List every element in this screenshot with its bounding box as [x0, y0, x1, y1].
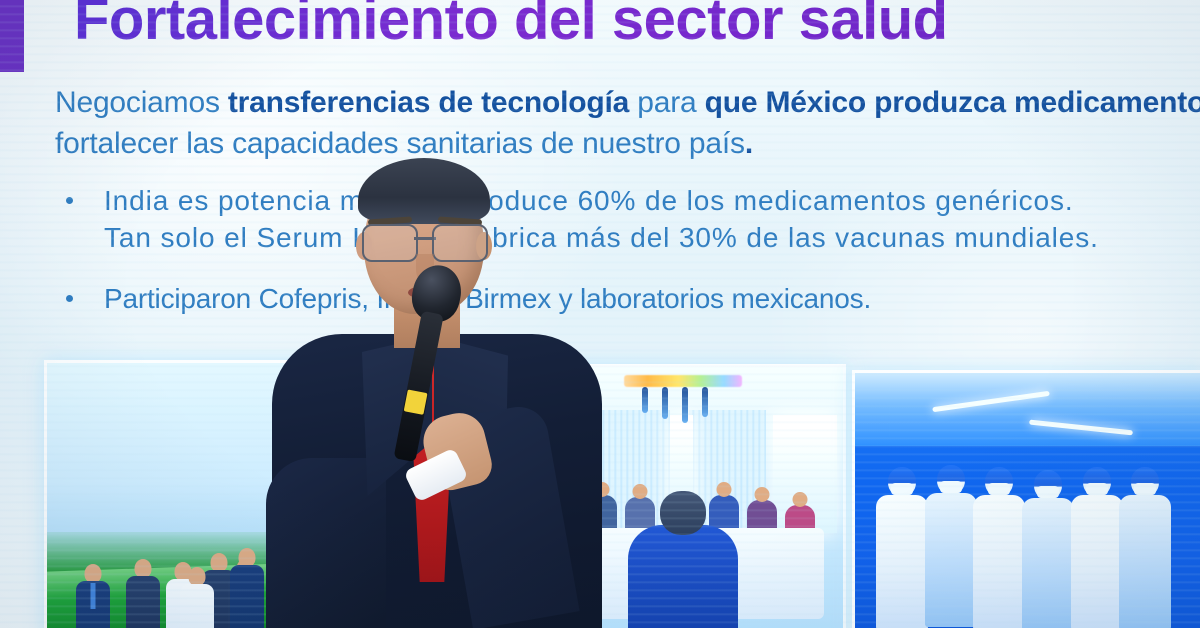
chandelier-icon	[624, 369, 742, 421]
lead-bold-2: que México produzca medicamentos	[705, 86, 1200, 119]
bullet-item-2: Participaron Cofepris, Insabi, Birmex y …	[60, 280, 1200, 317]
title-accent-bar	[0, 0, 24, 72]
slide-bullet-list: India es potencia mundial: produce 60% d…	[60, 182, 1200, 342]
speaker-figure	[258, 158, 618, 628]
slide-title: Fortalecimiento del sector salud	[74, 0, 948, 53]
bullet-item-1: India es potencia mundial: produce 60% d…	[60, 182, 1200, 256]
lead-bold-1: transferencias de tecnología	[228, 86, 629, 119]
photo-laboratory-workers	[852, 370, 1200, 628]
slide-lead-paragraph: Negociamos transferencias de tecnología …	[55, 82, 1200, 165]
lead-text-2: para	[629, 86, 705, 119]
presentation-screenshot: Fortalecimiento del sector salud Negocia…	[0, 0, 1200, 628]
lead-text-1: Negociamos	[55, 86, 228, 119]
lead-period: .	[745, 127, 753, 160]
speaker-hair	[358, 158, 490, 224]
